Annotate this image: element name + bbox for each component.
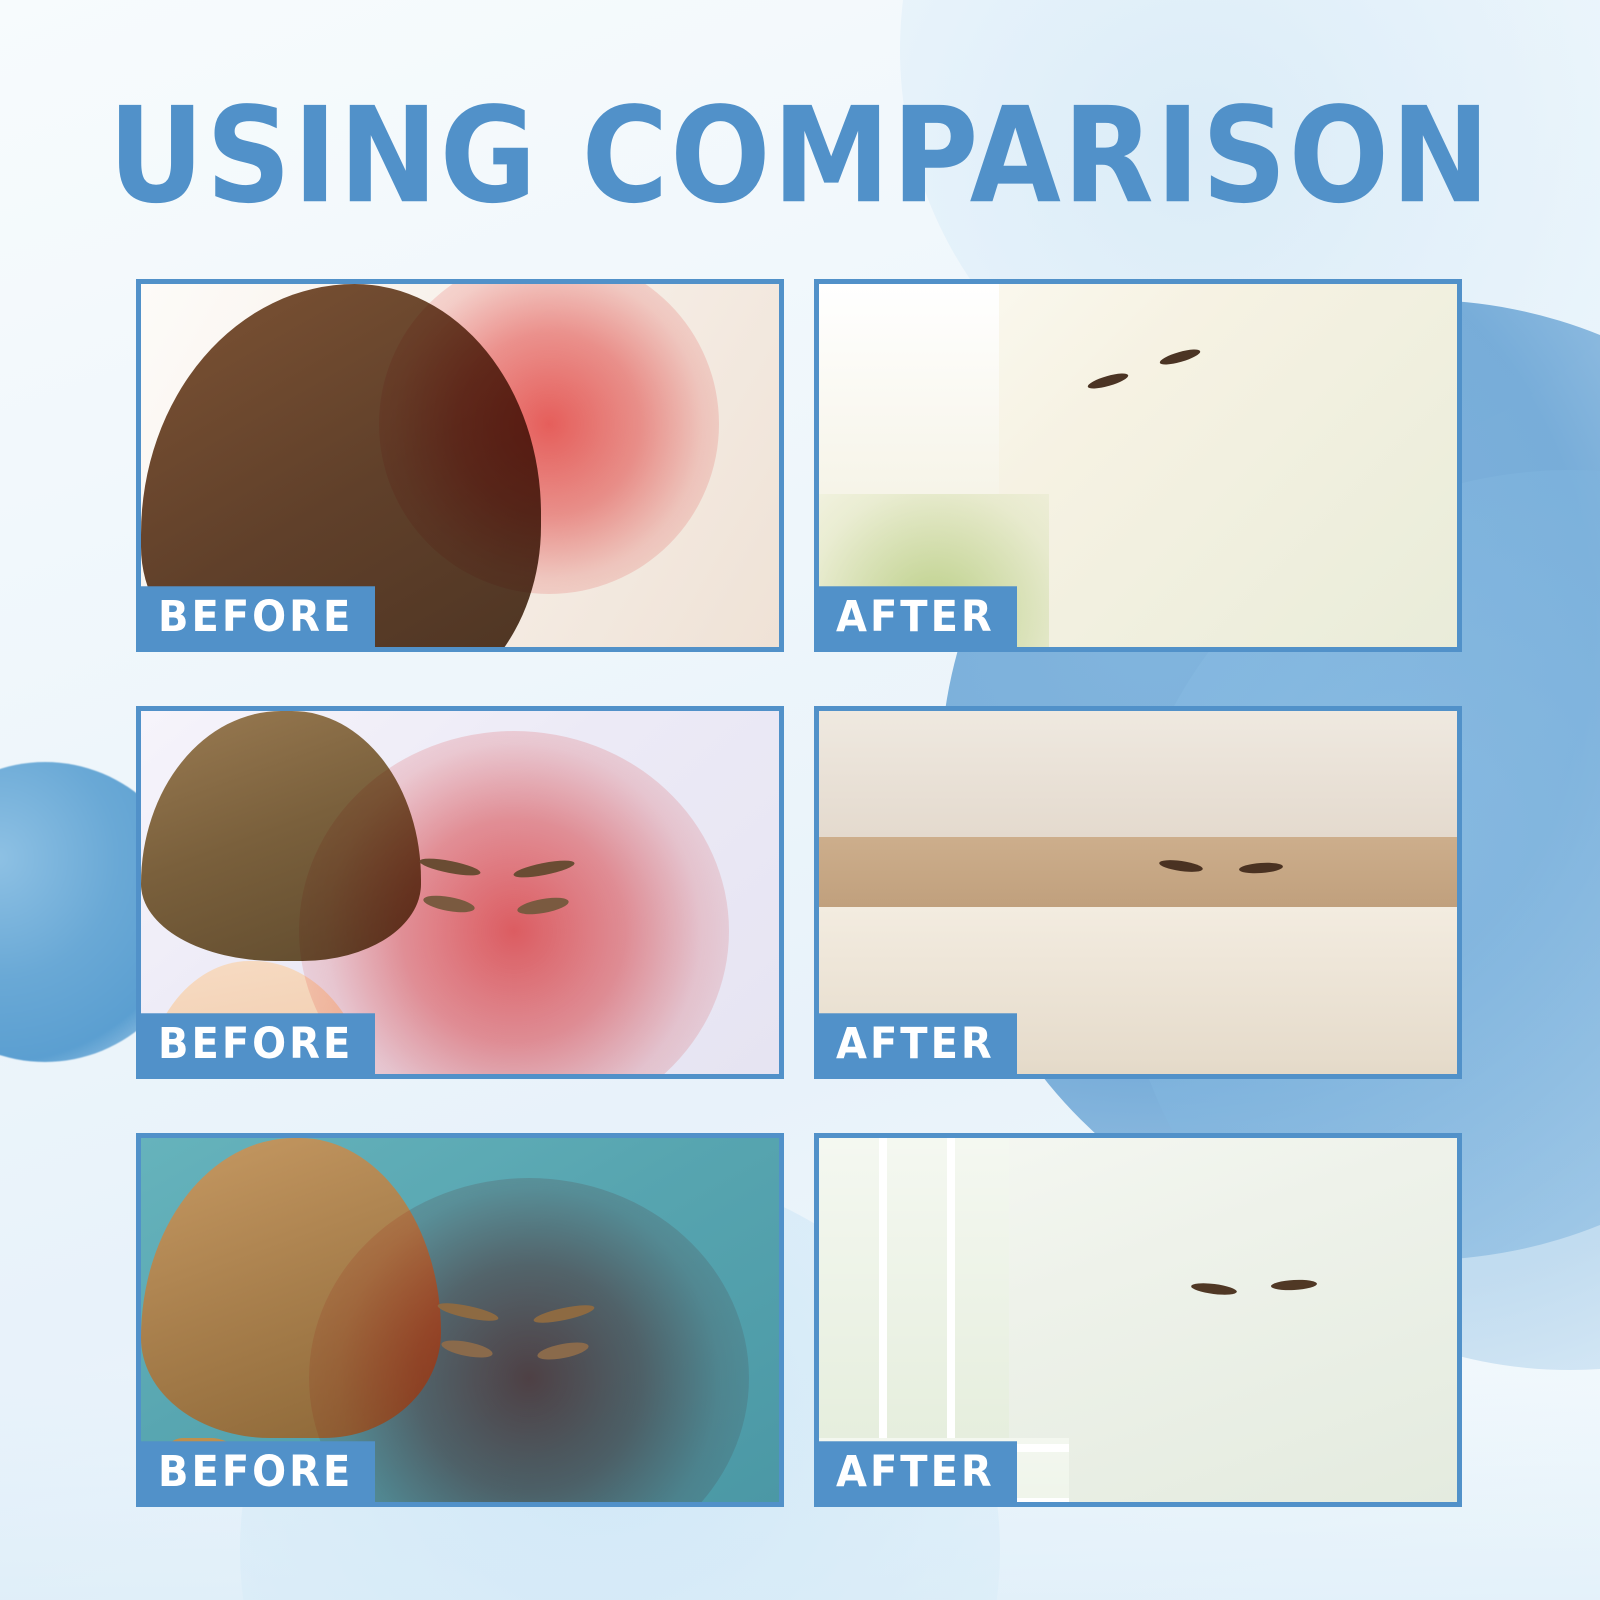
badge-after: AFTER bbox=[814, 1441, 1017, 1507]
comparison-card-after-1: AFTER bbox=[814, 279, 1462, 652]
window-left-shape bbox=[819, 1138, 1009, 1438]
wall-upper-shape bbox=[819, 711, 1457, 837]
badge-before: BEFORE bbox=[136, 1013, 375, 1079]
comparison-card-after-3: AFTER bbox=[814, 1133, 1462, 1507]
badge-before: BEFORE bbox=[136, 586, 375, 652]
comparison-grid: BEFORE AFTER bbox=[136, 279, 1462, 1501]
eye-left-shape bbox=[1086, 370, 1129, 391]
page-title: USING COMPARISON bbox=[0, 78, 1600, 233]
comparison-card-before-2: BEFORE bbox=[136, 706, 784, 1079]
comparison-card-after-2: AFTER bbox=[814, 706, 1462, 1079]
window-shape bbox=[819, 284, 999, 494]
eye-right-shape bbox=[1271, 1279, 1317, 1291]
comparison-card-before-1: BEFORE bbox=[136, 279, 784, 652]
wall-band-shape bbox=[819, 837, 1457, 907]
eye-right-shape bbox=[1158, 346, 1201, 367]
comparison-card-before-3: BEFORE bbox=[136, 1133, 784, 1507]
badge-before: BEFORE bbox=[136, 1441, 375, 1507]
eye-left-shape bbox=[1191, 1281, 1238, 1297]
badge-after: AFTER bbox=[814, 1013, 1017, 1079]
comparison-poster: USING COMPARISON BEFORE bbox=[0, 0, 1600, 1600]
badge-after: AFTER bbox=[814, 586, 1017, 652]
